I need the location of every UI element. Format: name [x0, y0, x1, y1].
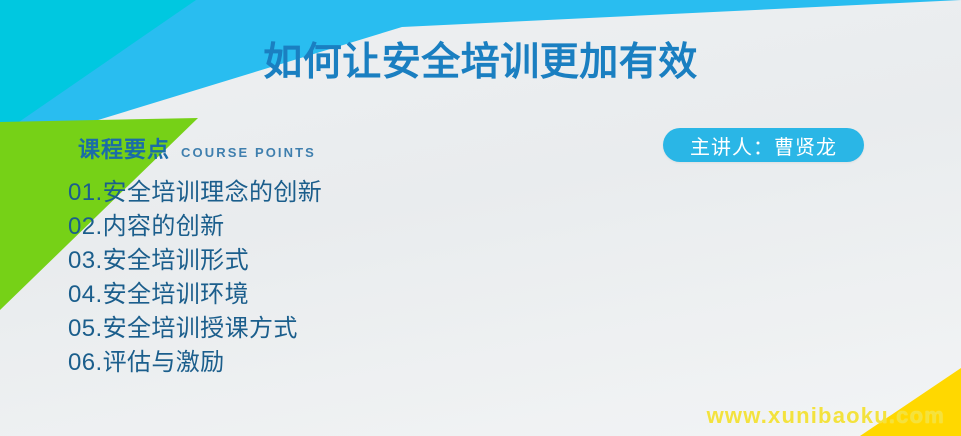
section-heading: 课程要点 COURSE POINTS: [78, 132, 316, 164]
list-item: 06.评估与激励: [68, 346, 322, 380]
page-title: 如何让安全培训更加有效: [0, 41, 961, 86]
list-item: 03.安全培训形式: [68, 244, 322, 278]
section-heading-cn: 课程要点: [78, 132, 170, 164]
section-heading-en: COURSE POINTS: [181, 145, 316, 160]
course-points-list: 01.安全培训理念的创新 02.内容的创新 03.安全培训形式 04.安全培训环…: [68, 176, 322, 380]
speaker-badge: 主讲人：曹贤龙: [663, 128, 864, 162]
list-item: 05.安全培训授课方式: [68, 312, 322, 346]
presentation-slide: 如何让安全培训更加有效 课程要点 COURSE POINTS 主讲人：曹贤龙 0…: [0, 0, 961, 436]
list-item: 04.安全培训环境: [68, 278, 322, 312]
list-item: 01.安全培训理念的创新: [68, 176, 322, 210]
watermark: www.xunibaoku.com: [707, 403, 945, 429]
list-item: 02.内容的创新: [68, 210, 322, 244]
